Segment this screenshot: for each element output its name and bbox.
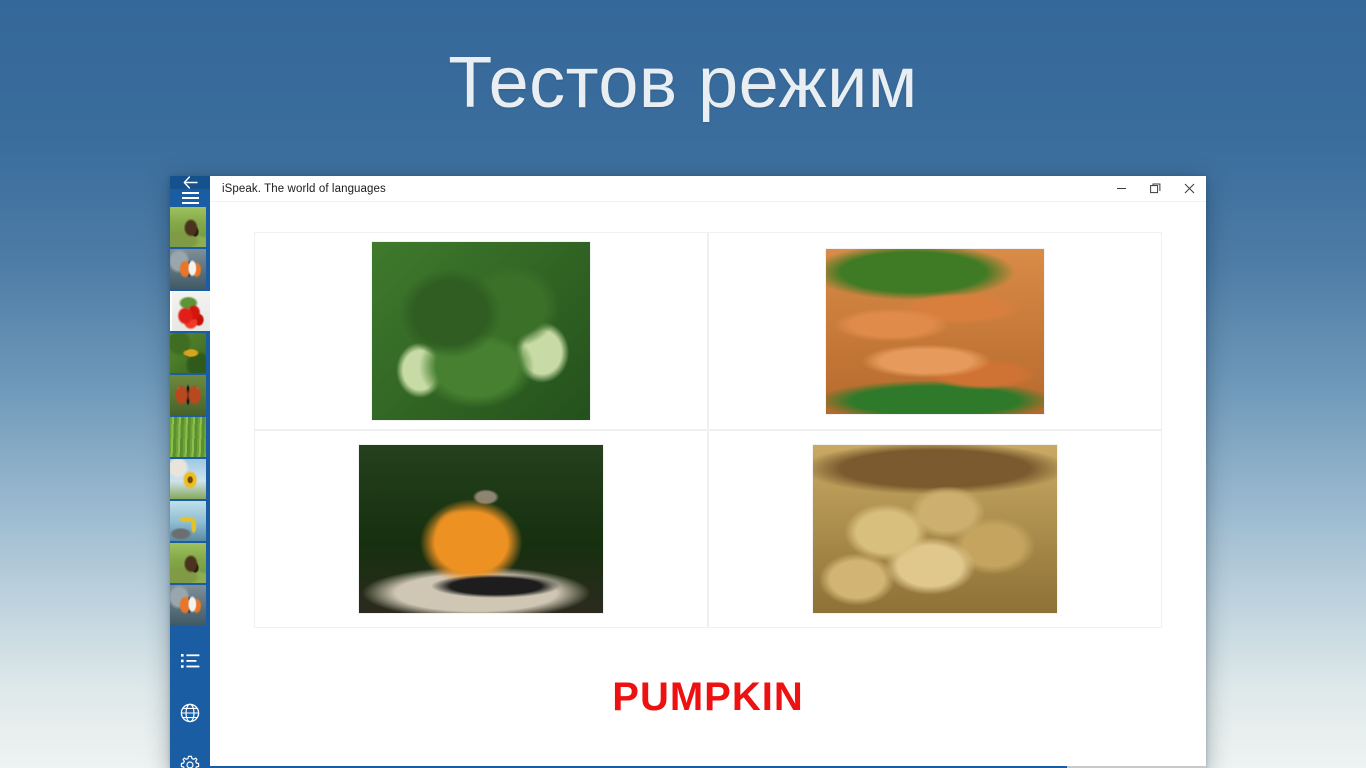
answer-option-potatoes[interactable]	[709, 431, 1161, 627]
minimize-button[interactable]	[1104, 176, 1138, 201]
answer-option-broccoli[interactable]	[255, 233, 707, 429]
title-bar: iSpeak. The world of languages	[210, 176, 1206, 202]
minimize-icon	[1116, 183, 1127, 194]
answer-image-broccoli	[372, 242, 590, 420]
thumbnail-clownfish[interactable]	[170, 249, 206, 289]
restore-icon	[1150, 183, 1161, 194]
content-area: PUMPKIN	[210, 202, 1206, 766]
answer-option-pumpkin[interactable]	[255, 431, 707, 627]
back-arrow-icon	[183, 176, 198, 189]
app-window: iSpeak. The world of languages	[170, 176, 1206, 768]
thumbnail-clownfish[interactable]	[170, 585, 206, 625]
page-title: Тестов режим	[0, 46, 1366, 122]
list-icon	[181, 653, 200, 670]
sidebar	[170, 176, 210, 768]
sidebar-item-settings[interactable]	[170, 745, 210, 768]
menu-button[interactable]	[170, 189, 210, 207]
thumbnail-list	[170, 207, 210, 627]
back-button[interactable]	[170, 176, 210, 189]
answer-grid	[254, 232, 1162, 628]
answer-image-carrots	[826, 249, 1044, 414]
sidebar-item-list[interactable]	[170, 641, 210, 681]
thumbnail-wasp[interactable]	[170, 333, 206, 373]
answer-image-potatoes	[813, 445, 1057, 613]
thumbnail-sunflower[interactable]	[170, 459, 206, 499]
hamburger-icon	[182, 189, 199, 207]
thumbnail-horse[interactable]	[170, 207, 206, 247]
word-area: PUMPKIN	[254, 628, 1162, 766]
sidebar-item-language[interactable]	[170, 693, 210, 733]
thumbnail-tomatoes[interactable]	[170, 291, 210, 331]
answer-option-carrots[interactable]	[709, 233, 1161, 429]
main-pane: iSpeak. The world of languages	[210, 176, 1206, 768]
app-title: iSpeak. The world of languages	[222, 183, 386, 195]
target-word: PUMPKIN	[612, 675, 803, 720]
thumbnail-excavator[interactable]	[170, 501, 206, 541]
thumbnail-butterfly[interactable]	[170, 375, 206, 415]
answer-image-pumpkin	[359, 445, 603, 613]
globe-icon	[180, 703, 200, 723]
thumbnail-horse[interactable]	[170, 543, 206, 583]
close-icon	[1184, 183, 1195, 194]
gear-icon	[180, 755, 200, 768]
sidebar-tools	[170, 641, 210, 768]
window-controls	[1104, 176, 1206, 201]
close-button[interactable]	[1172, 176, 1206, 201]
restore-button[interactable]	[1138, 176, 1172, 201]
thumbnail-grass[interactable]	[170, 417, 206, 457]
